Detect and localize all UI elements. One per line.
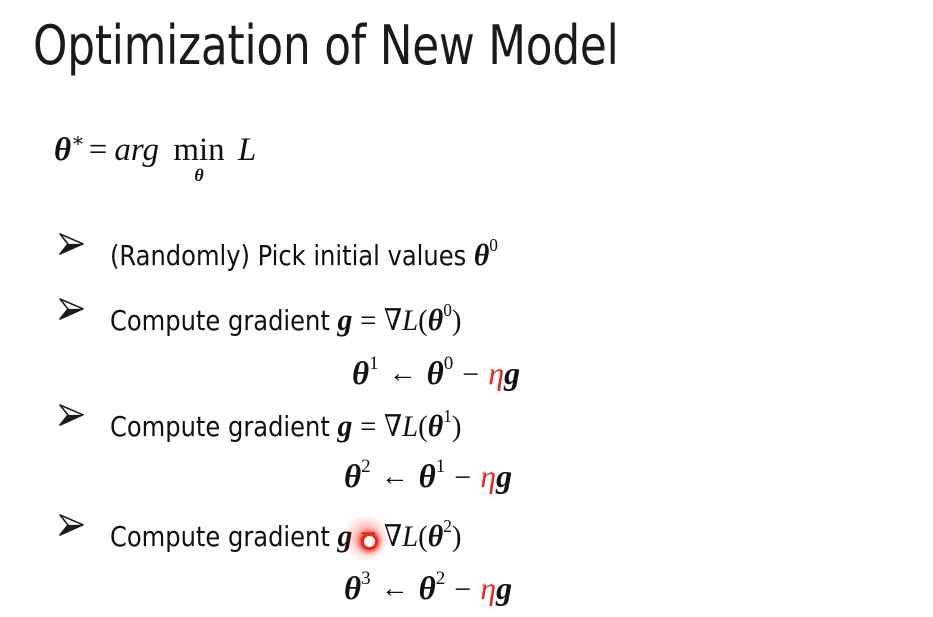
bullet-theta: θ xyxy=(428,518,443,553)
update-equation: θ1←θ0−ηg xyxy=(0,344,933,390)
list-item: Compute gradient g=∇L(θ1) xyxy=(0,397,933,441)
bullet-lead-text: Compute gradient xyxy=(110,520,338,553)
bullet-theta-superscript: 2 xyxy=(443,516,452,536)
nabla-icon: ∇ xyxy=(384,410,402,443)
minus-sign: − xyxy=(454,573,471,606)
open-paren: ( xyxy=(418,304,428,337)
arrowhead-bullet-icon xyxy=(55,399,87,431)
arrowhead-bullet-icon xyxy=(55,293,87,325)
equation-rhs-theta: θ xyxy=(427,356,444,392)
bullet-theta-superscript: 0 xyxy=(443,300,452,320)
nabla-icon: ∇ xyxy=(384,304,402,337)
equals-sign: = xyxy=(360,410,376,443)
open-paren: ( xyxy=(418,410,428,443)
update-equation: θ3←θ2−ηg xyxy=(0,559,933,605)
gradient-variable: g xyxy=(504,355,520,391)
bullet-lead-text: Compute gradient xyxy=(110,410,338,443)
equation-rhs-superscript: 1 xyxy=(436,456,446,477)
list-item: Compute gradient g=∇L(θ0) xyxy=(0,291,933,335)
update-equation-inner: θ1←θ0−ηg xyxy=(352,344,520,396)
equation-rhs-theta: θ xyxy=(419,459,436,495)
left-arrow-icon: ← xyxy=(381,461,409,492)
list-item-text: Compute gradient g=∇L(θ1) xyxy=(110,397,461,446)
bullet-theta-superscript: 1 xyxy=(443,406,452,426)
equation-lhs-superscript: 3 xyxy=(361,568,371,589)
bullet-theta: θ xyxy=(428,302,443,337)
list-item: (Randomly) Pick initial values θ0 xyxy=(0,226,933,270)
learning-rate-eta: η xyxy=(488,355,504,391)
objective-arg: arg xyxy=(114,132,159,168)
loss-symbol: L xyxy=(402,520,418,553)
gradient-variable: g xyxy=(496,458,512,494)
equation-lhs-theta: θ xyxy=(344,571,361,607)
arrowhead-bullet-icon xyxy=(55,509,87,541)
left-arrow-icon: ← xyxy=(381,573,409,604)
gradient-variable: g xyxy=(338,518,353,553)
equals-sign: = xyxy=(360,304,376,337)
gradient-variable: g xyxy=(338,408,353,443)
equation-rhs-superscript: 0 xyxy=(444,353,454,374)
gradient-variable: g xyxy=(338,302,353,337)
arrowhead-bullet-icon xyxy=(55,228,87,260)
bullet-theta-superscript: 0 xyxy=(489,235,498,255)
equals-sign: = xyxy=(360,520,376,553)
bullet-theta: θ xyxy=(474,237,489,272)
equation-lhs-superscript: 2 xyxy=(361,456,371,477)
minus-sign: − xyxy=(454,461,471,494)
equation-rhs-superscript: 2 xyxy=(436,568,446,589)
close-paren: ) xyxy=(452,304,462,337)
learning-rate-eta: η xyxy=(480,570,496,606)
objective-min-subscript: θ xyxy=(166,166,232,184)
loss-symbol: L xyxy=(402,410,418,443)
bullet-lead-text: Compute gradient xyxy=(110,304,338,337)
learning-rate-eta: η xyxy=(480,458,496,494)
equation-lhs-theta: θ xyxy=(344,459,361,495)
list-item-text: Compute gradient g=∇L(θ0) xyxy=(110,291,461,340)
gradient-variable: g xyxy=(496,570,512,606)
slide-canvas: Optimization of New Model θ∗=argminθL (R… xyxy=(0,0,933,617)
nabla-icon: ∇ xyxy=(384,520,402,553)
update-equation-inner: θ2←θ1−ηg xyxy=(344,447,512,499)
bullet-theta: θ xyxy=(428,408,443,443)
equation-lhs-superscript: 1 xyxy=(369,353,379,374)
objective-formula: θ∗=argminθL xyxy=(54,131,256,167)
equation-rhs-theta: θ xyxy=(419,571,436,607)
update-equation: θ2←θ1−ηg xyxy=(0,447,933,493)
objective-equals: = xyxy=(89,132,108,168)
objective-theta: θ xyxy=(54,132,71,168)
close-paren: ) xyxy=(452,410,462,443)
list-item-text: Compute gradient g=∇L(θ2) xyxy=(110,507,461,556)
minus-sign: − xyxy=(462,358,479,391)
equation-lhs-theta: θ xyxy=(352,356,369,392)
update-equation-inner: θ3←θ2−ηg xyxy=(344,559,512,611)
close-paren: ) xyxy=(452,520,462,553)
loss-symbol: L xyxy=(402,304,418,337)
objective-loss: L xyxy=(238,132,256,168)
bullet-lead-text: (Randomly) Pick initial values xyxy=(110,239,474,272)
list-item: Compute gradient g=∇L(θ2) xyxy=(0,507,933,551)
open-paren: ( xyxy=(418,520,428,553)
objective-min-group: minθ xyxy=(166,134,232,167)
left-arrow-icon: ← xyxy=(389,358,417,389)
page-title: Optimization of New Model xyxy=(33,14,619,77)
list-item-text: (Randomly) Pick initial values θ0 xyxy=(110,226,498,275)
objective-star: ∗ xyxy=(71,130,86,152)
objective-min: min xyxy=(166,134,232,167)
